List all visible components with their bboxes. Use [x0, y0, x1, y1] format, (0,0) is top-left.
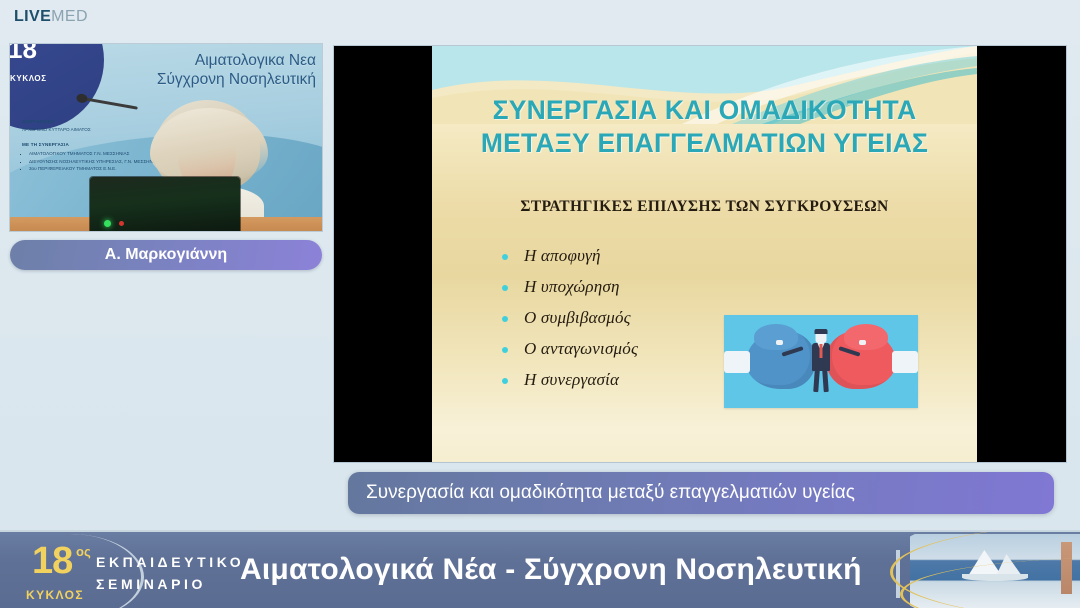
boxing-gloves-image: [724, 315, 918, 408]
referee-hand-right: [859, 340, 866, 345]
list-item: Η υποχώρηση: [502, 277, 638, 297]
list-item: Ο ανταγωνισμός: [502, 339, 638, 359]
logo-med-text: MED: [51, 8, 88, 25]
banner-boat-graphic: [890, 532, 1080, 608]
slide-title-line2: ΜΕΤΑΞΥ ΕΠΑΓΓΕΛΜΑΤΙΩΝ ΥΓΕΙΑΣ: [446, 127, 963, 160]
referee-head: [816, 331, 827, 343]
banner-seminar-line2: ΣΕΜΙΝΑΡΙΟ: [96, 574, 244, 596]
backdrop-title-line1: Αιματολογικα Νεα: [90, 52, 316, 71]
referee-hand-left: [776, 340, 783, 345]
speaker-video[interactable]: 18 ΚΥΚΛΟΣ Αιματολογικα Νεα Σύγχρονη Νοση…: [10, 44, 322, 231]
list-item: ΔΙΕΥΘΥΝΣΗΣ ΝΟΣΗΛΕΥΤΙΚΗΣ ΥΠΗΡΕΣΙΑΣ, Γ.Ν. …: [29, 158, 162, 166]
referee-tie: [820, 344, 823, 358]
list-item: Η συνεργασία: [502, 370, 638, 390]
presentation-slide: ΣΥΝΕΡΓΑΣΙΑ ΚΑΙ ΟΜΑΔΙΚΟΤΗΤΑ ΜΕΤΑΞΥ ΕΠΑΓΓΕ…: [432, 46, 977, 462]
list-item: 3ου ΠΕΡΙΦΕΡΕΙΑΚΟΥ ΤΜΗΜΑΤΟΣ Ε.Ν.Ε.: [29, 165, 162, 173]
slide-caption-text: Συνεργασία και ομαδικότητα μεταξύ επαγγε…: [366, 482, 855, 504]
list-item: ΑΙΜΑΤΟΛΟΓΙΚΟΥ ΤΜΗΜΑΤΟΣ Γ.Ν. ΜΕΣΣΗΝΙΑΣ: [29, 150, 162, 158]
bottom-banner: 18 ος ΚΥΚΛΟΣ ΕΚΠΑΙΔΕΥΤΙΚΟ ΣΕΜΙΝΑΡΙΟ Αιμα…: [0, 530, 1080, 608]
backdrop-org-heading: ΔΙΟΡΓΑΝΩΣΗ: [22, 119, 54, 124]
slide-caption-bar: Συνεργασία και ομαδικότητα μεταξύ επαγγε…: [348, 472, 1054, 514]
speaker-name-text: Α. Μαρκογιάννη: [105, 246, 227, 264]
slide-stage[interactable]: ΣΥΝΕΡΓΑΣΙΑ ΚΑΙ ΟΜΑΔΙΚΟΤΗΤΑ ΜΕΤΑΞΥ ΕΠΑΓΓΕ…: [334, 46, 1066, 462]
backdrop-title: Αιματολογικα Νεα Σύγχρονη Νοσηλευτική: [90, 52, 316, 90]
backdrop-title-line2: Σύγχρονη Νοσηλευτική: [90, 71, 316, 90]
laptop: [90, 177, 240, 231]
backdrop-org-text: ΑΡΧΕΓΟΝΟ ΚΥΤΤΑΡΟ ΑΙΜΑΤΟΣ: [22, 126, 162, 134]
slide-bullet-list: Η αποφυγή Η υποχώρηση Ο συμβιβασμός Ο αν…: [502, 246, 638, 401]
list-item: Ο συμβιβασμός: [502, 308, 638, 328]
slide-content: ΣΥΝΕΡΓΑΣΙΑ ΚΑΙ ΟΜΑΔΙΚΟΤΗΤΑ ΜΕΤΑΞΥ ΕΠΑΓΓΕ…: [432, 46, 977, 462]
speaker-name-badge: Α. Μαρκογιάννη: [10, 240, 322, 270]
app-root: LIVEMED 18 ΚΥΚΛΟΣ Αιματολογικα Νεα Σύγχρ…: [0, 0, 1080, 608]
list-item: Η αποφυγή: [502, 246, 638, 266]
backdrop-cycle-number: 18: [10, 44, 37, 65]
backdrop-coop-heading: ΜΕ ΤΗ ΣΥΝΕΡΓΑΣΙΑ: [22, 142, 69, 147]
livemed-logo: LIVEMED: [14, 9, 88, 25]
backdrop-organizer-block: ΔΙΟΡΓΑΝΩΣΗ ΑΡΧΕΓΟΝΟ ΚΥΤΤΑΡΟ ΑΙΜΑΤΟΣ ΜΕ Τ…: [22, 118, 162, 173]
logo-live-text: LIVE: [14, 8, 51, 25]
backdrop-cycle-label: ΚΥΚΛΟΣ: [10, 74, 47, 83]
slide-title: ΣΥΝΕΡΓΑΣΙΑ ΚΑΙ ΟΜΑΔΙΚΟΤΗΤΑ ΜΕΤΑΞΥ ΕΠΑΓΓΕ…: [446, 94, 963, 161]
banner-seminar-line1: ΕΚΠΑΙΔΕΥΤΙΚΟ: [96, 552, 244, 574]
referee-figure: [793, 331, 849, 393]
backdrop-coop-list: ΑΙΜΑΤΟΛΟΓΙΚΟΥ ΤΜΗΜΑΤΟΣ Γ.Ν. ΜΕΣΣΗΝΙΑΣ ΔΙ…: [29, 150, 162, 173]
referee-legs: [813, 370, 829, 392]
slide-title-line1: ΣΥΝΕΡΓΑΣΙΑ ΚΑΙ ΟΜΑΔΙΚΟΤΗΤΑ: [446, 94, 963, 127]
slide-subtitle: ΣΤΡΑΤΗΓΙΚΕΣ ΕΠΙΛΥΣΗΣ ΤΩΝ ΣΥΓΚΡΟΥΣΕΩΝ: [442, 198, 967, 216]
banner-title: Αιματολογικά Νέα - Σύγχρονη Νοσηλευτική: [240, 553, 862, 587]
banner-seminar-label: ΕΚΠΑΙΔΕΥΤΙΚΟ ΣΕΜΙΝΑΡΙΟ: [96, 552, 244, 595]
banner-cycle-number: 18: [32, 542, 72, 580]
speaker-panel: 18 ΚΥΚΛΟΣ Αιματολογικα Νεα Σύγχρονη Νοση…: [10, 44, 322, 270]
